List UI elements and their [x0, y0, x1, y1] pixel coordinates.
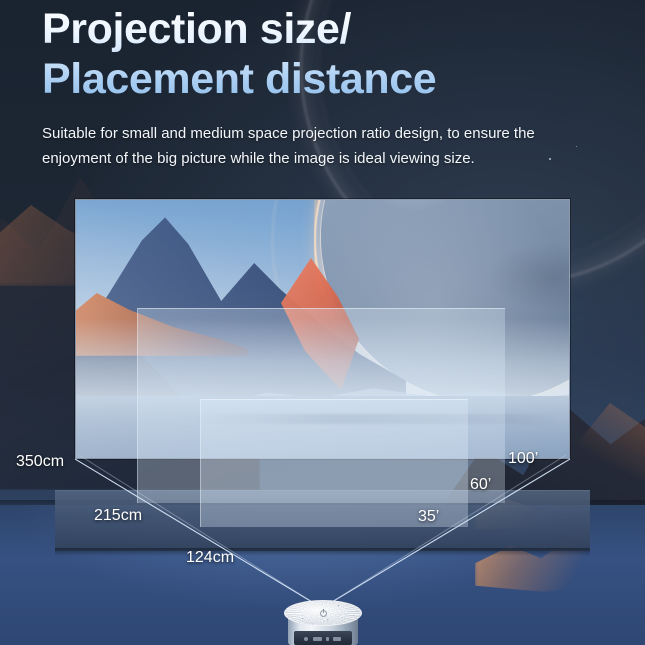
projector-device — [284, 600, 362, 645]
label-distance-124cm: 124cm — [186, 549, 234, 567]
power-icon — [320, 610, 327, 617]
label-distance-350cm: 350cm — [16, 453, 64, 471]
projector-port-usb — [333, 637, 341, 641]
floor-stand-shadow — [55, 548, 590, 556]
projector-spec-slide: Projection size/ Placement distance Suit… — [0, 0, 645, 645]
projector-port-aux — [304, 637, 308, 641]
label-size-60-inch: 60’ — [470, 476, 491, 494]
projector-port-band — [294, 631, 352, 645]
label-size-100-inch: 100’ — [508, 450, 538, 468]
label-distance-215cm: 215cm — [94, 507, 142, 525]
projector-port-reset — [326, 637, 329, 641]
projection-diagram: 350cm 215cm 124cm 100’ 60’ 35’ — [0, 0, 645, 645]
projector-port-hdmi — [313, 637, 322, 641]
label-size-35-inch: 35’ — [418, 508, 439, 526]
